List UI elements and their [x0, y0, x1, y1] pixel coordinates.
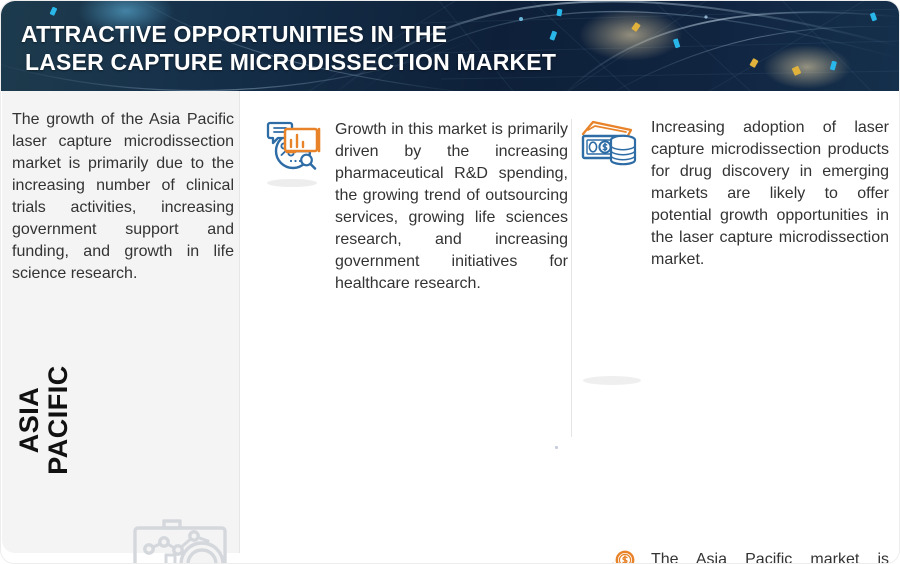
region-label-line-2: PACIFIC: [43, 365, 73, 475]
header-banner: ATTRACTIVE OPPORTUNITIES IN THE LASER CA…: [1, 1, 900, 91]
presentation-chart-magnifier-icon: [124, 509, 236, 564]
region-label-line-1: ASIA: [14, 387, 44, 454]
block-opportunities-text: Increasing adoption of laser capture mic…: [651, 117, 889, 271]
icon-shadow: [267, 179, 317, 187]
block-drivers-text: Growth in this market is primarily drive…: [335, 119, 568, 295]
money-cash-coins-icon: [579, 117, 635, 173]
middle-column: Growth in this market is primarily drive…: [263, 91, 568, 355]
page-title: ATTRACTIVE OPPORTUNITIES IN THE LASER CA…: [21, 20, 556, 76]
left-panel-paragraph: The growth of the Asia Pacific laser cap…: [12, 109, 234, 285]
pie-chart-analytics-icon: [263, 119, 319, 175]
block-cagr-text: The Asia Pacific market is estimated to …: [651, 549, 889, 564]
infographic-canvas: ATTRACTIVE OPPORTUNITIES IN THE LASER CA…: [0, 0, 900, 564]
block-cagr: The Asia Pacific market is estimated to …: [579, 549, 889, 564]
region-label: ASIA PACIFIC: [15, 360, 73, 480]
block-opportunities: Increasing adoption of laser capture mic…: [579, 117, 889, 271]
title-line-1: ATTRACTIVE OPPORTUNITIES IN THE: [21, 21, 447, 47]
right-column: Increasing adoption of laser capture mic…: [579, 91, 889, 333]
icon-shadow: [583, 376, 641, 385]
column-divider: [571, 119, 572, 437]
title-line-2: LASER CAPTURE MICRODISSECTION MARKET: [21, 48, 556, 76]
decorative-speck: [555, 446, 558, 449]
block-drivers: Growth in this market is primarily drive…: [263, 119, 568, 295]
growth-bar-chart-dollar-icon: [579, 549, 635, 564]
left-summary-panel: The growth of the Asia Pacific laser cap…: [2, 91, 240, 553]
